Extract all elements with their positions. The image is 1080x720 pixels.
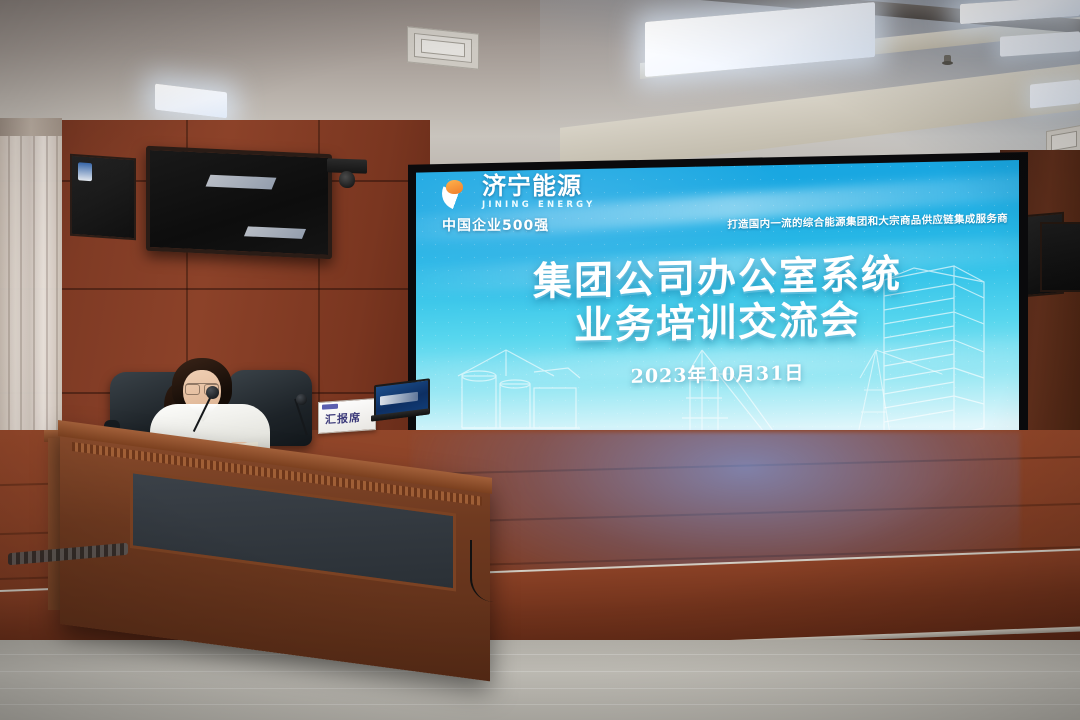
led-wall-screen[interactable]: 济宁能源 JINING ENERGY 中国企业500强 打造国内一流的综合能源集… [416, 160, 1019, 460]
carpet-floor [0, 640, 1080, 720]
name-plate: 汇报席 [318, 398, 376, 434]
brand-logo: 济宁能源 JINING ENERGY 中国企业500强 [442, 174, 595, 235]
microphone-icon [296, 394, 307, 405]
brand-name-cn: 济宁能源 [482, 174, 595, 198]
sun-arc-logo-icon [442, 177, 475, 210]
wall-display[interactable] [1040, 222, 1080, 292]
hvac-vent [407, 26, 479, 70]
slide-title-line1: 集团公司办公室系统 [533, 252, 902, 305]
laptop-device[interactable] [374, 379, 426, 423]
curtain-rod [0, 118, 62, 136]
conference-room-photo: 济宁能源 JINING ENERGY 中国企业500强 打造国内一流的综合能源集… [0, 0, 1080, 720]
wall-display[interactable] [146, 146, 332, 259]
slide-title: 集团公司办公室系统 业务培训交流会 [416, 250, 1019, 353]
microphone-icon [206, 386, 219, 399]
brand-subtitle: 中国企业500强 [442, 215, 595, 235]
loudspeaker [70, 154, 136, 241]
fire-sprinkler-icon [944, 55, 951, 64]
brand-name-en: JINING ENERGY [482, 200, 595, 210]
name-plate-text: 汇报席 [325, 409, 361, 428]
ptz-camera-icon [327, 158, 367, 173]
